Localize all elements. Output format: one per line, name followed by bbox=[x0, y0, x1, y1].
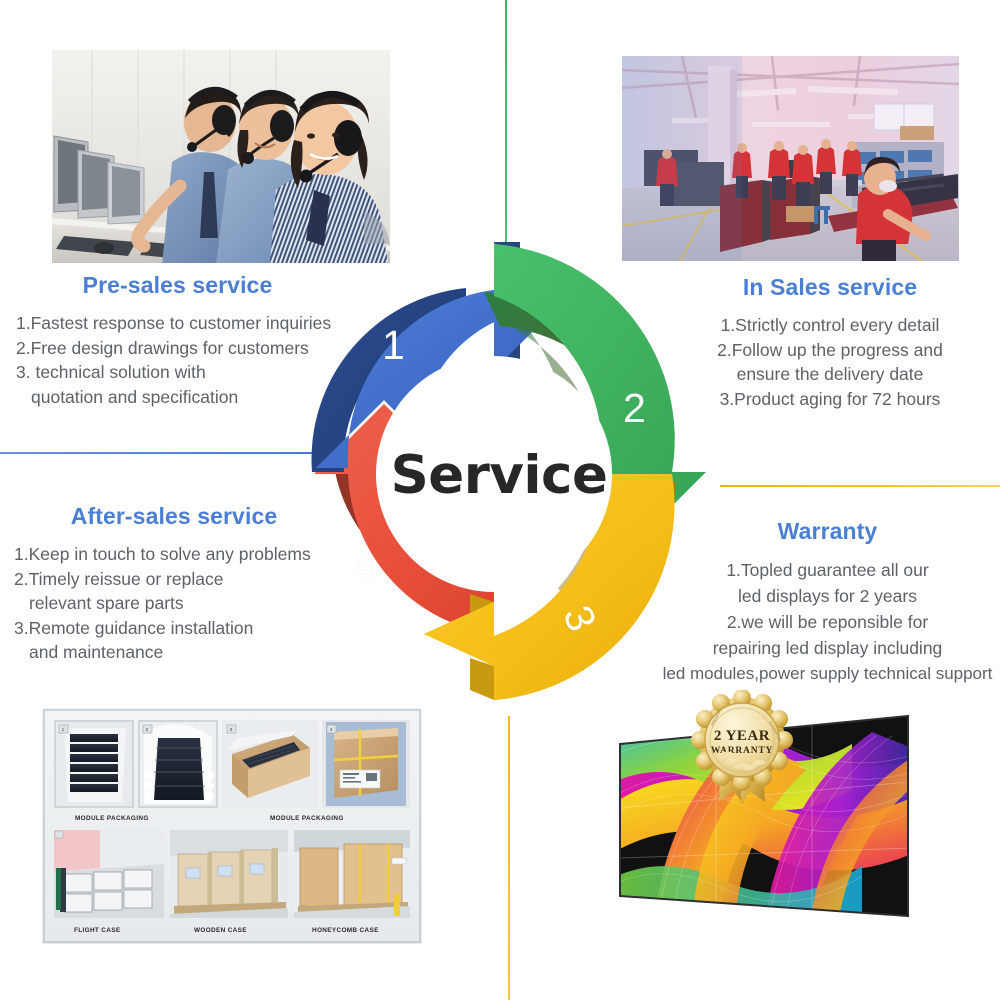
list-item: 1.Fastest response to customer inquiries bbox=[16, 311, 345, 336]
list-item: led modules,power supply technical suppo… bbox=[655, 661, 1000, 687]
badge-line-2: WARRANTY bbox=[711, 746, 773, 756]
badge-line-1: 2 YEAR bbox=[714, 728, 770, 744]
list-item: repairing led display including bbox=[655, 635, 1000, 661]
section-in-sales: In Sales service 1.Strictly control ever… bbox=[660, 274, 1000, 411]
infographic-canvas: 1 2 bbox=[0, 0, 1000, 1000]
list-item: 1.Strictly control every detail bbox=[660, 313, 1000, 338]
list-item: 3.Product aging for 72 hours bbox=[660, 387, 1000, 412]
section-title-in-sales: In Sales service bbox=[660, 274, 1000, 301]
list-item: quotation and specification bbox=[16, 385, 345, 410]
list-item: 2.Timely reissue or replace bbox=[14, 567, 330, 592]
list-item: and maintenance bbox=[14, 640, 330, 665]
packaging-caption-3: WOODEN CASE bbox=[194, 927, 247, 934]
section-pre-sales: Pre-sales service 1.Fastest response to … bbox=[0, 272, 345, 409]
packaging-caption-2: FLIGHT CASE bbox=[74, 927, 121, 934]
list-item: 2.Follow up the progress and bbox=[660, 338, 1000, 363]
list-item: 1.Topled guarantee all our bbox=[655, 557, 1000, 583]
divider-line-top bbox=[505, 0, 507, 250]
divider-line-right bbox=[720, 485, 1000, 487]
section-list-warranty: 1.Topled guarantee all our led displays … bbox=[655, 557, 1000, 687]
list-item: relevant spare parts bbox=[14, 591, 330, 616]
packaging-caption-1: MODULE PACKAGING bbox=[270, 815, 344, 822]
list-item: 1.Keep in touch to solve any problems bbox=[14, 542, 330, 567]
section-title-warranty: Warranty bbox=[655, 518, 1000, 545]
list-item: 3. technical solution with bbox=[16, 360, 345, 385]
packaging-caption-4: HONEYCOMB CASE bbox=[312, 927, 379, 934]
factory-photo bbox=[622, 56, 959, 261]
packaging-photo-grid: 1 2 bbox=[42, 708, 422, 944]
divider-line-bottom bbox=[508, 716, 510, 1000]
section-list-after-sales: 1.Keep in touch to solve any problems 2.… bbox=[0, 542, 330, 665]
list-item: 3.Remote guidance installation bbox=[14, 616, 330, 641]
section-title-pre-sales: Pre-sales service bbox=[0, 272, 345, 299]
list-item: ensure the delivery date bbox=[660, 362, 1000, 387]
section-after-sales: After-sales service 1.Keep in touch to s… bbox=[0, 503, 330, 665]
call-center-photo bbox=[52, 50, 390, 263]
list-item: led displays for 2 years bbox=[655, 583, 1000, 609]
packaging-caption-0: MODULE PACKAGING bbox=[75, 815, 149, 822]
section-warranty: Warranty 1.Topled guarantee all our led … bbox=[655, 518, 1000, 687]
section-list-pre-sales: 1.Fastest response to customer inquiries… bbox=[0, 311, 345, 409]
section-title-after-sales: After-sales service bbox=[0, 503, 330, 530]
list-item: 2.Free design drawings for customers bbox=[16, 336, 345, 361]
section-list-in-sales: 1.Strictly control every detail 2.Follow… bbox=[660, 313, 1000, 411]
list-item: 2.we will be reponsible for bbox=[655, 609, 1000, 635]
